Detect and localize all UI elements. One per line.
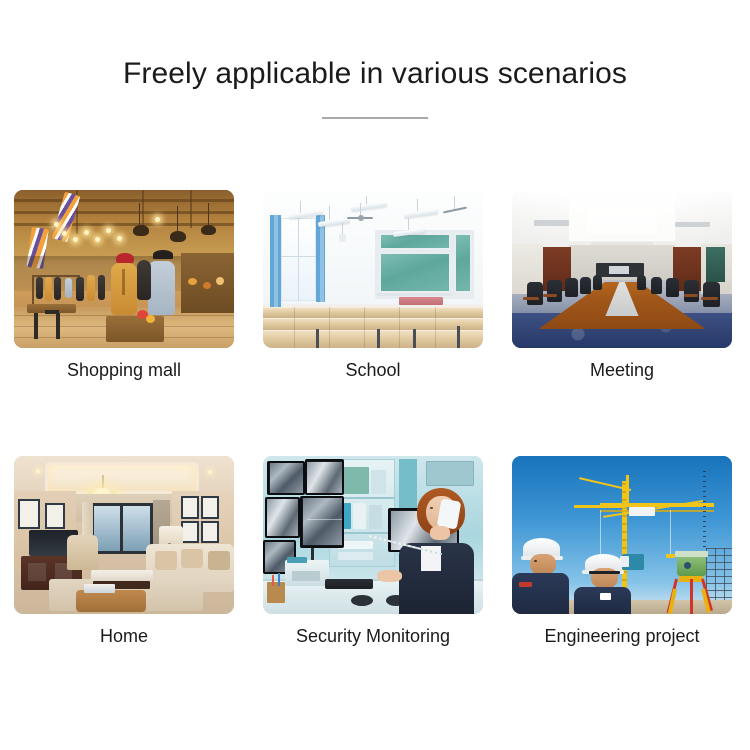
desk-object [351,595,373,606]
wall-art [18,499,40,529]
window-curtain [316,215,325,302]
shelf-item [338,552,373,560]
classroom-podium [399,297,443,305]
crane-cable [670,510,671,554]
pen [278,573,280,586]
home-living-room-photo[interactable] [14,456,234,614]
meeting-chair [651,277,662,294]
crane-jib-lower [600,510,714,512]
ceiling-panel-right [675,190,732,251]
window-drape [706,247,726,282]
mall-bulb [155,217,160,222]
light-rod [329,206,330,220]
total-station [677,556,706,577]
wall-art [181,496,199,520]
cabinet-door [27,562,47,583]
mall-mannequin [137,260,151,300]
meeting-chair [527,282,543,306]
scenario-label: Shopping mall [0,358,259,382]
scenario-label: Security Monitoring [238,624,508,648]
mall-garment [45,277,52,301]
mall-garment [54,277,61,300]
air-vent [534,220,569,226]
crane-counter-jib [574,505,627,508]
crane-machinery-housing [629,507,655,516]
table-lamp [159,526,183,545]
desk-gap [364,307,365,348]
ceiling-recess-inner [587,206,657,234]
binder [353,503,366,528]
desk-leg [457,326,460,348]
wall-art [45,503,65,528]
mall-bulb [84,230,89,235]
operator-eye [430,507,433,509]
desk-gap [435,307,436,348]
cctv-feed [303,498,343,545]
crane-cable [600,510,601,557]
meeting-chair [593,275,602,289]
mall-stool [34,313,38,338]
pen [272,575,274,586]
wall-art [201,496,219,520]
mall-ceiling-beam [190,190,192,228]
mall-merch [203,282,211,289]
tripod-leg [690,579,693,614]
desk-leg [413,329,416,348]
mall-garment [87,275,95,301]
desk-gap [399,307,400,348]
mall-display-table [106,316,163,341]
mall-garment [36,277,43,299]
total-station-lens [684,562,691,569]
pen-holder [267,582,285,603]
scaffolding [706,548,732,605]
scenario-label: Meeting [487,358,750,382]
mall-garment [76,277,84,301]
downlight [36,469,40,473]
sofa-cushion [181,549,203,568]
worker-body [574,587,631,614]
scenario-label: School [238,358,508,382]
open-book [84,584,115,593]
mall-ceiling-beam [14,199,234,202]
uniform-badge [600,593,611,599]
telephone-keypad [292,571,321,580]
screen-content [609,266,629,274]
chair-armrest [684,294,698,297]
crane-hook-block [666,554,675,558]
cctv-feed [267,499,298,535]
desk-leg [316,329,319,348]
operator-hand [430,526,450,540]
engineering-project-photo[interactable] [512,456,732,614]
antenna-mast [703,469,706,557]
chalk-tray [377,293,452,296]
mall-clothing-rack [32,275,34,307]
pendant-light [133,225,149,236]
mall-bulb [54,222,59,227]
chalkboard-side [454,233,472,293]
scenario-showcase-page: Freely applicable in various scenarios [0,0,750,750]
sofa-cushion [208,551,230,570]
chair-armrest [543,294,557,297]
ottoman [76,590,146,612]
desk-row [263,307,483,318]
light-rod [417,199,418,212]
mall-ceiling-beam [14,211,234,214]
chair-armrest [523,297,539,300]
desk-row [263,318,483,330]
chalkboard-upper [379,233,452,250]
scenario-grid: Shopping mall [0,0,750,750]
cctv-feed [270,463,303,493]
desk-row [263,330,483,348]
desk-gap [329,307,330,348]
mall-flowers [146,315,155,323]
scenario-label: Home [0,624,259,648]
pendant-light [201,225,216,235]
cctv-feed [307,462,342,494]
telephone-display [287,557,307,563]
air-vent [675,222,710,228]
cctv-feed-split [307,519,342,520]
shelf-item [342,467,368,494]
accent-armchair [67,535,98,570]
chair-armrest [701,297,718,300]
scenario-label: Engineering project [487,624,750,648]
security-monitoring-photo[interactable] [263,456,483,614]
shelf-item [371,470,386,494]
uniform-badge [519,582,532,587]
meeting-chair [703,282,720,307]
ceiling-fan-hub [358,215,364,221]
total-station-handle [675,551,708,557]
worker-body [512,573,569,614]
meeting-chair [580,277,591,294]
mall-coat-seam [122,269,125,295]
desk-gap [294,307,295,348]
mall-garment [65,278,72,298]
pendant-light [170,231,186,242]
binder [369,505,382,529]
school-classroom-photo[interactable] [263,190,483,348]
mall-stool [56,313,60,338]
classroom-speaker [339,234,346,242]
window-curtain [270,215,281,307]
wall-art [181,521,199,543]
sunglasses [589,571,620,574]
keyboard [325,579,373,588]
wall-art [201,521,219,543]
meeting-chair [666,278,679,297]
meeting-chair [547,280,562,302]
window-mullion [120,503,123,554]
mall-mannequin [148,261,175,315]
mall-garment [98,275,105,300]
meeting-chair [565,278,578,297]
meeting-room-photo[interactable] [512,190,732,348]
chalkboard-main [379,252,452,293]
downlight [208,470,212,474]
desk-leg [377,329,380,348]
window-mullion [298,218,299,300]
sofa-cushion [155,551,177,570]
meeting-chair [684,280,699,302]
mall-ceiling-beam [14,223,234,226]
pendant-light-stem [139,203,140,225]
storage-box [426,461,474,486]
shopping-mall-photo[interactable] [14,190,234,348]
mall-mannequin-hat [153,250,173,259]
pendant-light-stem [208,203,209,225]
mall-stool [45,310,59,314]
operator-hand-on-mouse [377,570,401,583]
pendant-light-stem [177,206,178,231]
meeting-chair [637,275,646,289]
tray-ceiling [45,462,199,494]
